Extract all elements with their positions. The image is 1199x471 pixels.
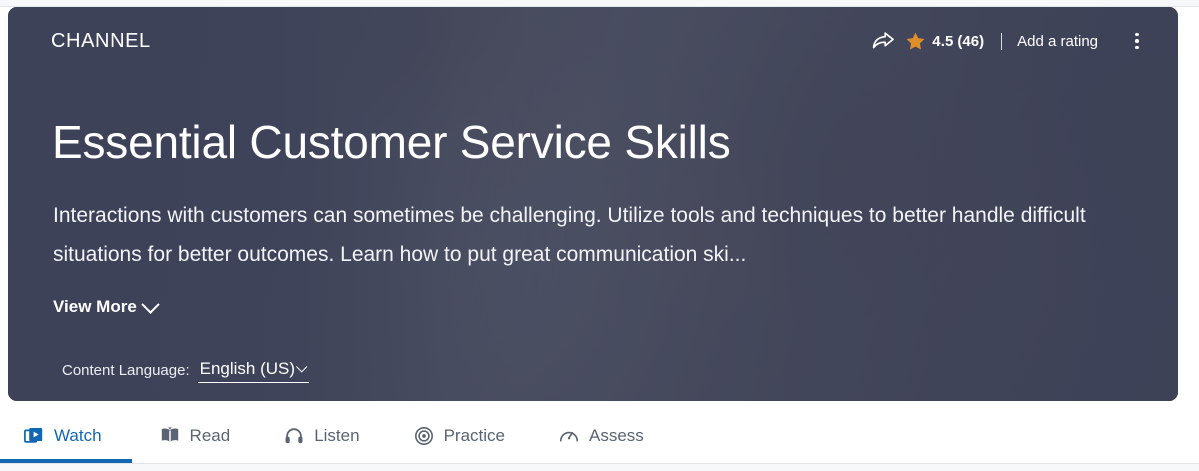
tab-practice-label: Practice <box>444 425 505 447</box>
tab-assess[interactable]: Assess <box>555 409 668 463</box>
rating-value: 4.5 <box>932 33 953 50</box>
chevron-down-icon <box>296 361 307 372</box>
content-language-row: Content Language: English (US) <box>62 359 309 383</box>
add-rating-button[interactable]: Add a rating <box>1017 33 1098 50</box>
target-icon <box>413 425 435 447</box>
rating-display[interactable]: 4.5 (46) <box>906 32 984 50</box>
star-icon <box>906 32 925 50</box>
hero-action-bar: 4.5 (46) Add a rating <box>866 25 1154 57</box>
tab-read[interactable]: Read <box>156 409 255 463</box>
channel-description: Interactions with customers can sometime… <box>53 196 1115 274</box>
content-language-value: English (US) <box>200 359 295 379</box>
tab-watch[interactable]: Watch <box>20 409 126 463</box>
active-tab-indicator <box>0 459 132 463</box>
chevron-down-icon <box>141 295 159 313</box>
page-bottom-strip <box>0 464 1199 471</box>
channel-page: CHANNEL 4.5 (46) Add a rating <box>0 0 1199 471</box>
hero-content: CHANNEL 4.5 (46) Add a rating <box>8 7 1178 401</box>
gauge-icon <box>558 425 580 447</box>
share-button[interactable] <box>866 26 900 56</box>
content-language-select[interactable]: English (US) <box>198 359 309 383</box>
view-more-label: View More <box>53 297 137 317</box>
share-arrow-icon <box>872 32 894 51</box>
tab-assess-label: Assess <box>589 425 644 447</box>
tab-listen[interactable]: Listen <box>280 409 383 463</box>
video-library-icon <box>23 425 45 447</box>
headphones-icon <box>283 425 305 447</box>
channel-eyebrow-label: CHANNEL <box>51 28 151 54</box>
tab-listen-label: Listen <box>314 425 359 447</box>
content-type-tabbar: Watch Read Listen <box>0 409 1199 464</box>
tab-practice[interactable]: Practice <box>410 409 529 463</box>
rating-count: (46) <box>957 33 984 50</box>
content-language-label: Content Language: <box>62 362 190 383</box>
kebab-menu-icon <box>1135 33 1139 37</box>
tab-read-label: Read <box>190 425 231 447</box>
open-book-icon <box>159 425 181 447</box>
channel-hero-banner: CHANNEL 4.5 (46) Add a rating <box>8 7 1178 401</box>
view-more-button[interactable]: View More <box>53 297 157 317</box>
kebab-menu-icon <box>1135 39 1139 43</box>
action-divider <box>1001 33 1002 50</box>
page-top-strip <box>0 0 1199 7</box>
overflow-menu-button[interactable] <box>1120 26 1154 56</box>
tab-watch-label: Watch <box>54 425 102 447</box>
kebab-menu-icon <box>1135 46 1139 50</box>
page-title: Essential Customer Service Skills <box>52 114 731 170</box>
